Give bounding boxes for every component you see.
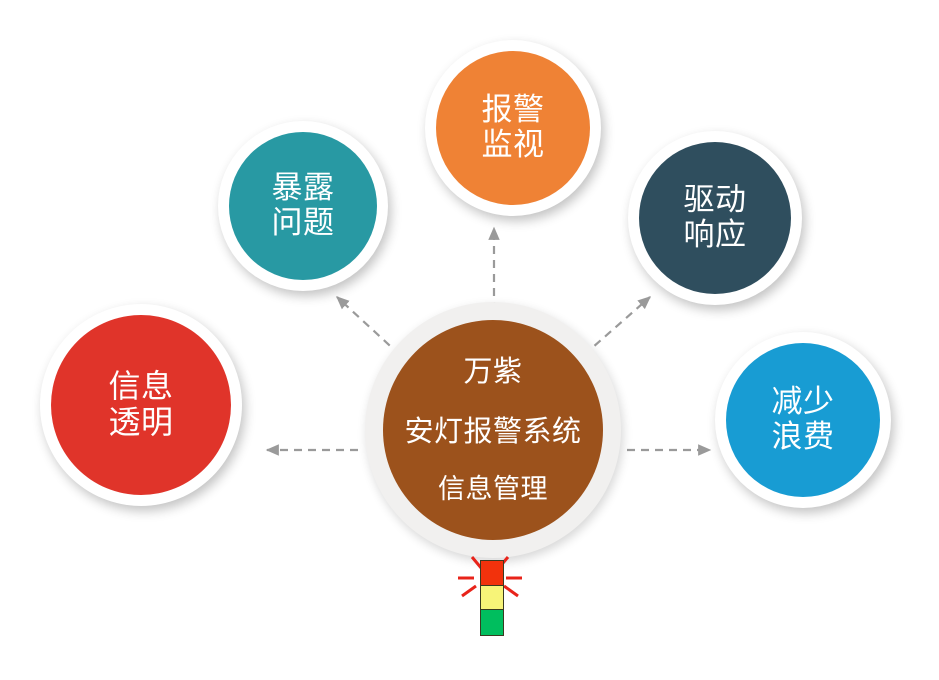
andon-green-lamp (481, 610, 503, 635)
node-label-line2: 响应 (684, 218, 747, 253)
node-label-line2: 问题 (272, 206, 335, 241)
connector-hub-to-exposure (337, 297, 400, 355)
andon-yellow-lamp (481, 586, 503, 611)
hub-label-group: 万紫 安灯报警系统 信息管理 (404, 355, 581, 505)
node-label-line1: 暴露 (272, 171, 335, 206)
node-label-line1: 驱动 (684, 183, 747, 218)
node-exposure-problems[interactable]: 暴露 问题 (218, 121, 388, 291)
andon-red-lamp (481, 561, 503, 586)
node-reduce-waste[interactable]: 减少 浪费 (715, 332, 891, 508)
node-information-transparency[interactable]: 信息 透明 (40, 304, 242, 506)
andon-light-tower (452, 548, 528, 648)
node-label-line2: 监视 (482, 128, 545, 163)
hub-label-line1: 万紫 (463, 355, 522, 387)
diagram-canvas: 暴露 问题 报警 监视 驱动 响应 信息 透明 减少 浪费 万紫 安灯报警系统 … (0, 0, 939, 680)
node-label-line2: 透明 (108, 405, 173, 441)
andon-lamp-stack (480, 560, 504, 636)
node-label-line2: 浪费 (772, 420, 835, 455)
node-label-line1: 减少 (772, 385, 835, 420)
node-drive-response[interactable]: 驱动 响应 (628, 131, 802, 305)
hub-label-line3: 信息管理 (438, 475, 548, 505)
hub-label-line2: 安灯报警系统 (404, 415, 581, 447)
node-label-line1: 报警 (482, 93, 545, 128)
node-alarm-monitoring[interactable]: 报警 监视 (425, 40, 601, 216)
connector-hub-to-drive-response (584, 297, 650, 355)
node-label-line1: 信息 (108, 369, 173, 405)
node-central-hub[interactable]: 万紫 安灯报警系统 信息管理 (365, 302, 621, 558)
